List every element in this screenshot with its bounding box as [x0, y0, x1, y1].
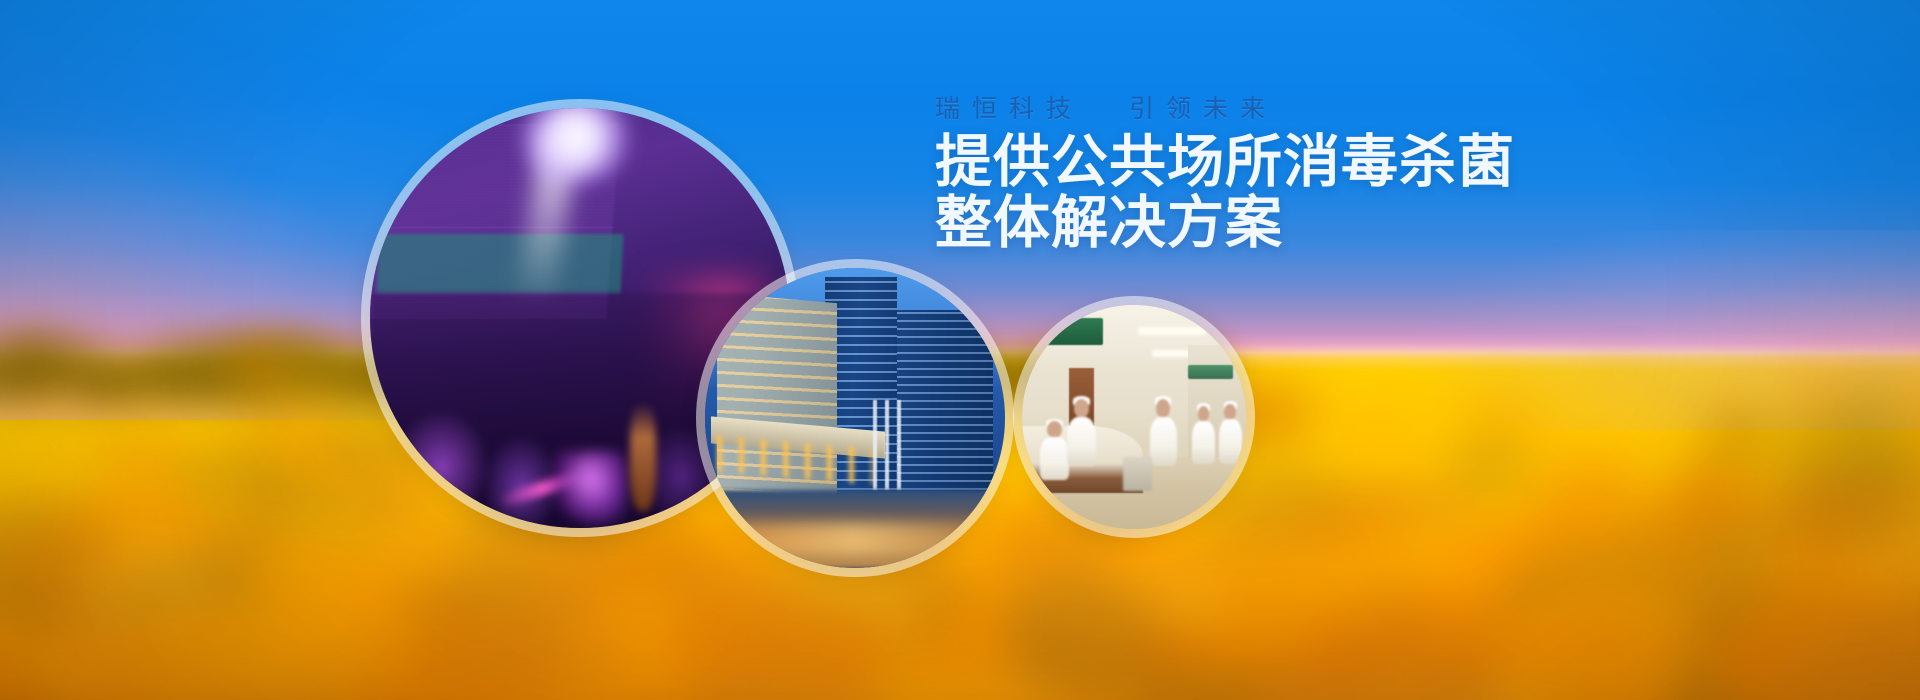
hospital-nurse: [1067, 399, 1096, 466]
hospital-nurse: [1040, 421, 1069, 479]
office-flagpole: [897, 400, 901, 490]
headline-line-2: 整体解决方案: [935, 194, 1635, 252]
hospital-department-sign: [1035, 318, 1102, 345]
banner-headline: 提供公共场所消毒杀菌 整体解决方案: [935, 133, 1635, 252]
tagline-part-1: 瑞恒科技: [935, 92, 1083, 126]
office-tower-left-bands: [717, 293, 837, 519]
hospital-direction-sign: [1188, 365, 1233, 378]
club-ice-bucket: [555, 452, 626, 519]
office-flagpole: [873, 400, 877, 490]
photo-circle-hospital: [1022, 305, 1246, 529]
hospital-ceiling-light: [1138, 327, 1205, 334]
photo-circle-office: [705, 268, 1005, 568]
office-photo: [705, 268, 1005, 568]
office-traffic-light-streak: [705, 523, 1005, 556]
banner-text-block: 瑞恒科技 引领未来 提供公共场所消毒杀菌 整体解决方案: [935, 92, 1635, 252]
tagline-spacer: [1083, 92, 1129, 126]
hospital-nurse: [1150, 399, 1177, 466]
hospital-medical-cart: [1123, 457, 1152, 491]
brand-tagline: 瑞恒科技 引领未来: [935, 92, 1635, 126]
club-led-strip: [377, 234, 624, 293]
hero-banner: 瑞恒科技 引领未来 提供公共场所消毒杀菌 整体解决方案: [0, 0, 1920, 700]
hospital-nurse: [1192, 406, 1214, 464]
office-flagpole: [885, 400, 889, 490]
club-bottle: [630, 402, 655, 511]
tagline-part-2: 引领未来: [1129, 92, 1277, 126]
hospital-photo: [1022, 305, 1246, 529]
hospital-nurse: [1219, 404, 1241, 464]
headline-line-1: 提供公共场所消毒杀菌: [935, 130, 1515, 194]
